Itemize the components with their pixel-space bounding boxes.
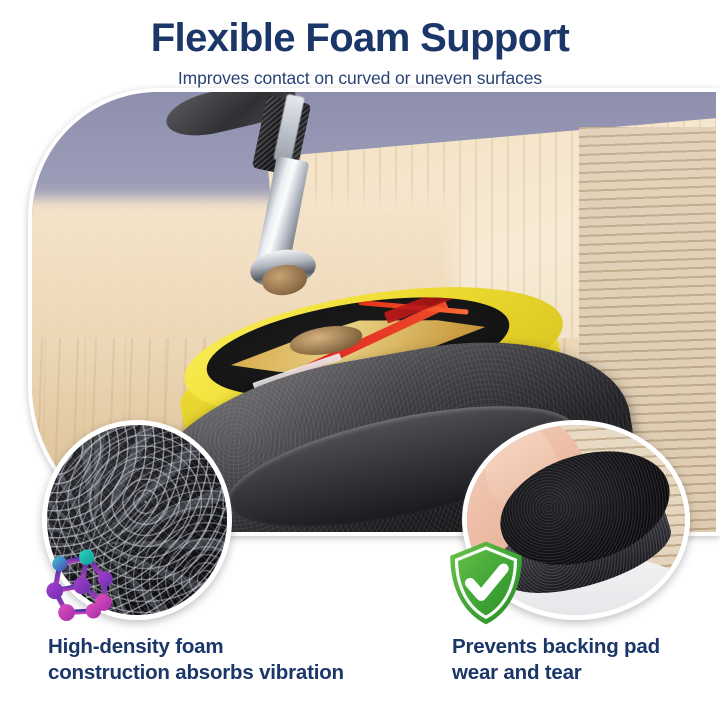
page-subtitle: Improves contact on curved or uneven sur… [0,58,720,89]
header: Flexible Foam Support Improves contact o… [0,0,720,88]
caption-foam-construction: High-density foam construction absorbs v… [48,634,438,686]
caption-line-2: construction absorbs vibration [48,660,438,686]
caption-line-1: High-density foam [48,634,438,660]
page-title: Flexible Foam Support [0,0,720,58]
caption-line-2: wear and tear [452,660,702,686]
caption-line-1: Prevents backing pad [452,634,702,660]
caption-pad-protection: Prevents backing pad wear and tear [452,634,702,686]
shield-check-icon [446,540,526,626]
molecule-icon [38,542,122,626]
